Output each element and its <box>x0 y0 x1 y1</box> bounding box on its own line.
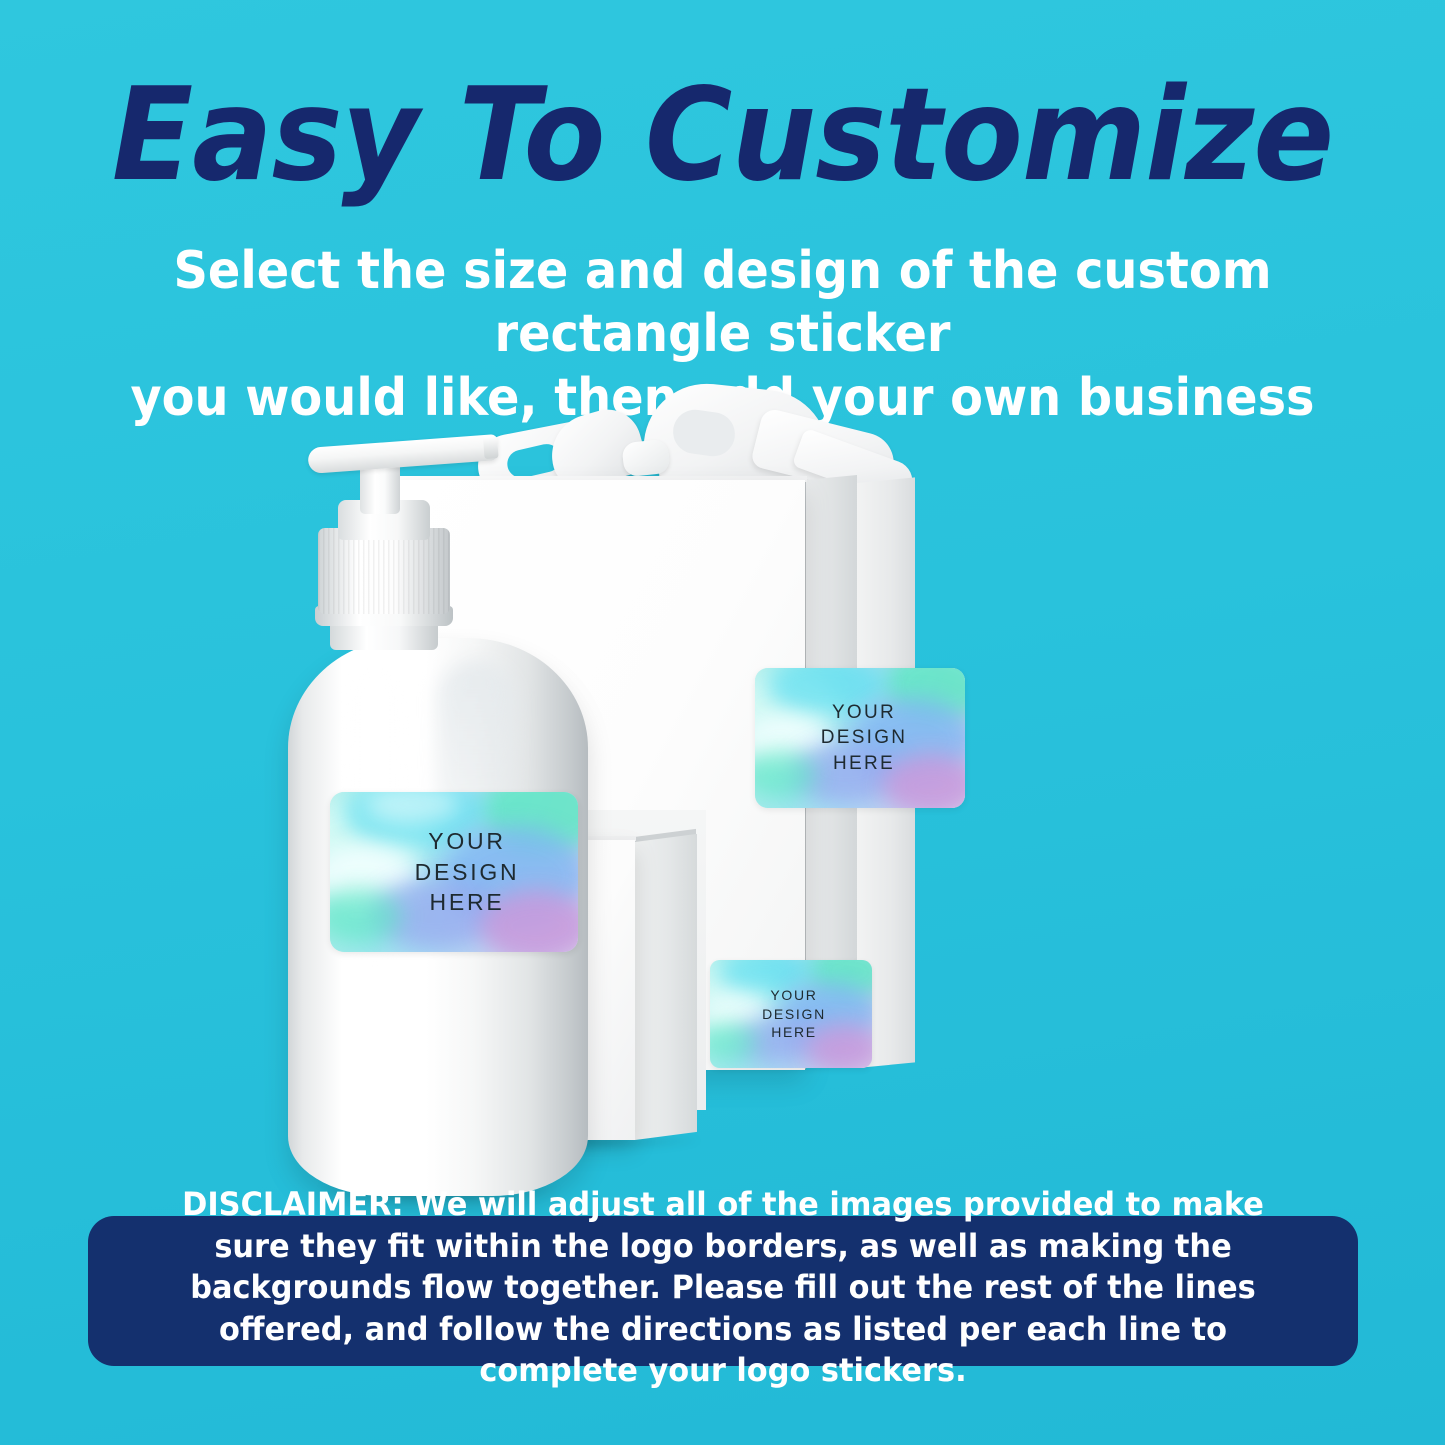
promo-graphic: Easy To Customize Select the size and de… <box>0 0 1445 1445</box>
disclaimer-banner: DISCLAIMER: We will adjust all of the im… <box>88 1216 1358 1366</box>
sticker-line-3: HERE <box>833 751 895 776</box>
sticker-placeholder-text: YOUR DESIGN HERE <box>710 960 872 1068</box>
sticker-line-3: HERE <box>771 1023 817 1042</box>
bottle-ribbed-collar <box>318 528 450 614</box>
sticker-placeholder-text: YOUR DESIGN HERE <box>755 668 965 808</box>
sticker-line-3: HERE <box>430 887 505 918</box>
sticker-line-1: YOUR <box>832 700 896 725</box>
sticker-line-1: YOUR <box>428 826 506 857</box>
sticker-line-2: DESIGN <box>821 725 908 750</box>
product-mockup-scene: YOUR DESIGN HERE <box>0 380 1445 1190</box>
pump-nozzle <box>307 434 498 474</box>
sticker-line-2: DESIGN <box>762 1005 826 1024</box>
sticker-line-1: YOUR <box>770 986 817 1005</box>
small-box-side-face <box>635 834 697 1140</box>
sticker-on-small-box[interactable]: YOUR DESIGN HERE <box>710 960 872 1068</box>
sticker-on-bottle[interactable]: YOUR DESIGN HERE <box>330 792 578 952</box>
disclaimer-label: DISCLAIMER: <box>182 1185 404 1223</box>
sticker-on-gift-box[interactable]: YOUR DESIGN HERE <box>755 668 965 808</box>
page-title: Easy To Customize <box>51 72 1395 200</box>
sticker-placeholder-text: YOUR DESIGN HERE <box>330 792 578 952</box>
disclaimer-text: DISCLAIMER: We will adjust all of the im… <box>162 1184 1285 1392</box>
sticker-line-2: DESIGN <box>415 857 520 888</box>
ribbon-knot <box>621 439 670 478</box>
subheading-line-1: Select the size and design of the custom… <box>122 240 1323 367</box>
